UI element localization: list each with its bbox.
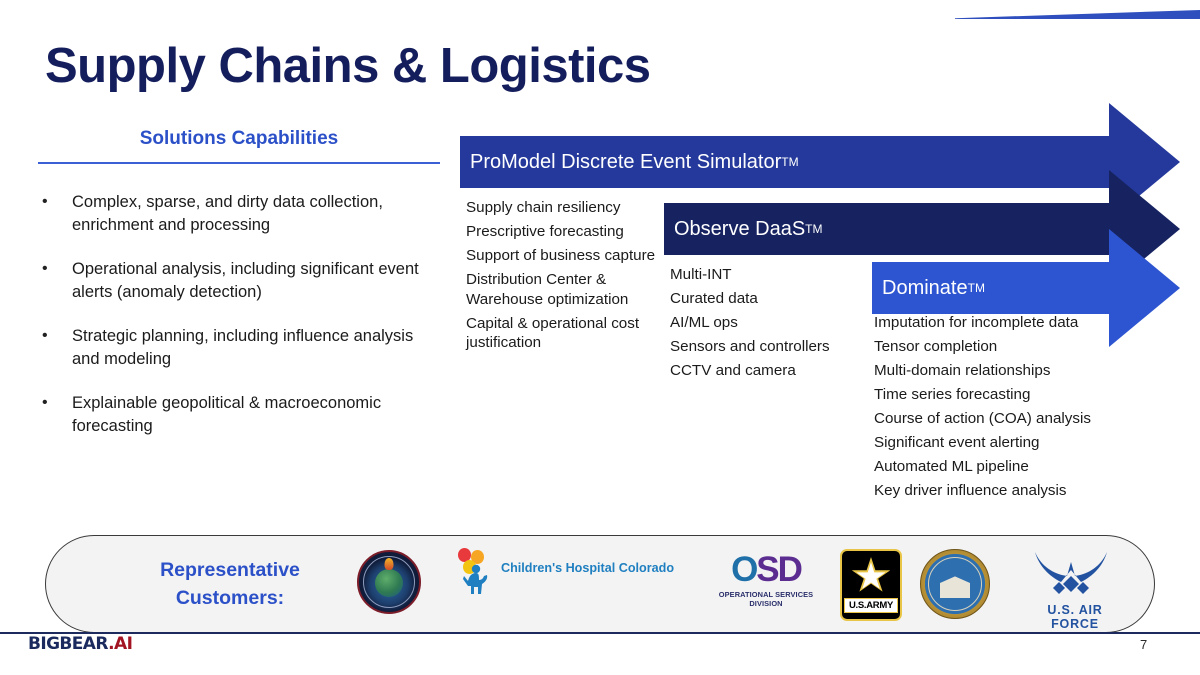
list-item: • Explainable geopolitical & macroeconom… xyxy=(38,392,438,437)
customers-label-line2: Customers: xyxy=(130,584,330,612)
feature-item: Time series forecasting xyxy=(874,385,1114,405)
feature-item: Course of action (COA) analysis xyxy=(874,409,1114,429)
observe-daas-feature-list: Multi-INT Curated data AI/ML ops Sensors… xyxy=(670,265,870,385)
representative-customers-label: Representative Customers: xyxy=(130,556,330,612)
child-figure-icon xyxy=(463,564,489,594)
army-star-icon: U.S.ARMY xyxy=(840,549,902,621)
list-item-label: Complex, sparse, and dirty data collecti… xyxy=(72,191,438,236)
feature-item: Automated ML pipeline xyxy=(874,457,1114,477)
osd-wordmark: OSD xyxy=(712,552,820,588)
list-item-label: Strategic planning, including influence … xyxy=(72,325,438,370)
feature-item: Support of business capture xyxy=(466,246,656,266)
bullet-marker-icon: • xyxy=(38,258,72,303)
feature-item: Significant event alerting xyxy=(874,433,1114,453)
feature-item: CCTV and camera xyxy=(670,361,870,381)
solutions-capabilities-heading: Solutions Capabilities xyxy=(38,128,440,150)
top-right-accent-line xyxy=(955,10,1200,19)
promodel-name: ProModel Discrete Event Simulator xyxy=(470,151,781,174)
list-item-label: Explainable geopolitical & macroeconomic… xyxy=(72,392,438,437)
observe-daas-name: Observe DaaS xyxy=(674,218,805,241)
promodel-band-label: ProModel Discrete Event SimulatorTM xyxy=(460,136,1109,188)
feature-item: Curated data xyxy=(670,289,870,309)
feature-item: AI/ML ops xyxy=(670,313,870,333)
logo-osd: OSD OPERATIONAL SERVICES DIVISION xyxy=(712,552,820,608)
feature-item: Supply chain resiliency xyxy=(466,198,656,218)
logo-defense-intelligence-agency xyxy=(357,550,421,614)
feature-item: Prescriptive forecasting xyxy=(466,222,656,242)
feature-item: Sensors and controllers xyxy=(670,337,870,357)
list-item: • Operational analysis, including signif… xyxy=(38,258,438,303)
observe-daas-band-label: Observe DaaSTM xyxy=(664,203,1109,255)
page-title: Supply Chains & Logistics xyxy=(45,38,651,94)
bigbear-wordmark: BIGBEAR xyxy=(28,634,108,654)
list-item: • Strategic planning, including influenc… xyxy=(38,325,438,370)
childrens-hospital-wordmark: Children's Hospital Colorado xyxy=(501,561,674,575)
bullet-marker-icon: • xyxy=(38,325,72,370)
solutions-capabilities-list: • Complex, sparse, and dirty data collec… xyxy=(38,191,438,459)
bullet-marker-icon: • xyxy=(38,392,72,437)
logo-childrens-hospital-colorado: Children's Hospital Colorado xyxy=(455,548,685,608)
dominate-name: Dominate xyxy=(882,277,968,300)
dominate-band-label: DominateTM xyxy=(872,262,1109,314)
feature-item: Tensor completion xyxy=(874,337,1114,357)
army-wordmark: U.S.ARMY xyxy=(844,598,898,613)
bigbear-ai-suffix: .AI xyxy=(108,634,132,654)
feature-item: Distribution Center & Warehouse optimiza… xyxy=(466,270,656,309)
air-force-wordmark: U.S. AIR FORCE xyxy=(1025,603,1125,631)
feature-item: Imputation for incomplete data xyxy=(874,313,1114,333)
feature-item: Multi-domain relationships xyxy=(874,361,1114,381)
list-item-label: Operational analysis, including signific… xyxy=(72,258,438,303)
osd-subtitle: OPERATIONAL SERVICES DIVISION xyxy=(712,590,820,608)
page-number: 7 xyxy=(1140,637,1147,652)
logo-us-army: U.S.ARMY xyxy=(840,549,902,621)
logo-us-air-force: U.S. AIR FORCE xyxy=(1025,552,1125,631)
list-item: • Complex, sparse, and dirty data collec… xyxy=(38,191,438,236)
feature-item: Key driver influence analysis xyxy=(874,481,1114,501)
footer-divider xyxy=(0,632,1200,634)
feature-item: Capital & operational cost justification xyxy=(466,314,656,353)
promodel-feature-list: Supply chain resiliency Prescriptive for… xyxy=(466,198,656,357)
bigbear-ai-logo: BIGBEAR.AI xyxy=(28,634,132,654)
slide-canvas: Supply Chains & Logistics Solutions Capa… xyxy=(0,0,1200,675)
dominate-feature-list: Imputation for incomplete data Tensor co… xyxy=(874,313,1114,505)
logo-export-import-bank xyxy=(920,549,990,619)
bullet-marker-icon: • xyxy=(38,191,72,236)
solutions-capabilities-divider xyxy=(38,162,440,164)
air-force-wings-icon xyxy=(1025,552,1117,596)
feature-item: Multi-INT xyxy=(670,265,870,285)
customers-label-line1: Representative xyxy=(130,556,330,584)
